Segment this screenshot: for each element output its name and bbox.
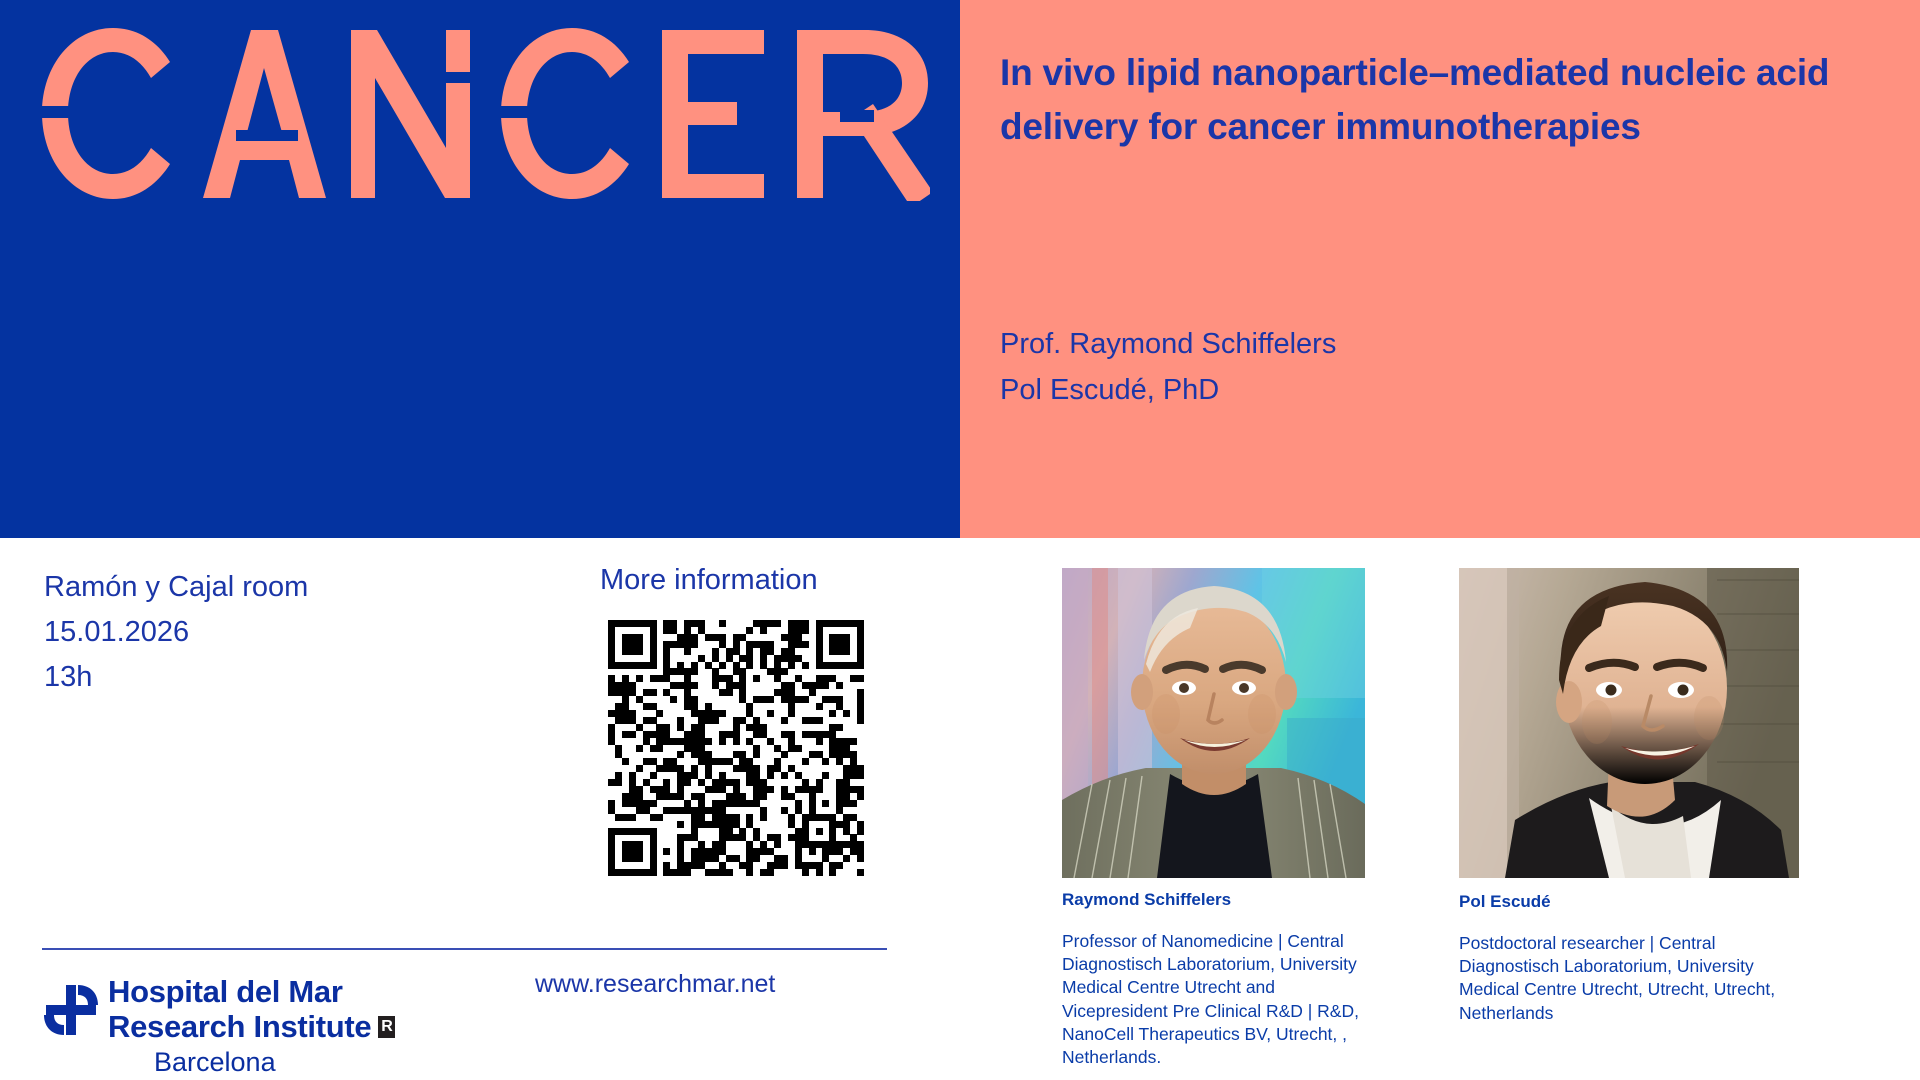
footer-divider <box>42 948 887 950</box>
event-time: 13h <box>44 655 308 700</box>
qr-code[interactable] <box>608 620 864 876</box>
header-banner: In vivo lipid nanoparticle–mediated nucl… <box>0 0 1920 538</box>
header-speaker-list: Prof. Raymond Schiffelers Pol Escudé, Ph… <box>1000 322 1890 414</box>
logo-line-3: Barcelona <box>154 1046 395 1078</box>
speaker-portrait-photo <box>1459 568 1799 878</box>
more-information-label: More information <box>600 564 818 597</box>
cancer-wordmark <box>40 26 930 201</box>
speaker-portrait-photo <box>1062 568 1365 878</box>
speaker-card: Pol Escudé Postdoctoral researcher | Cen… <box>1459 568 1799 1025</box>
speaker-bio: Professor of Nanomedicine | Central Diag… <box>1062 930 1362 1069</box>
body-area: Ramón y Cajal room 15.01.2026 13h More i… <box>0 538 1920 1080</box>
registered-mark-icon: R <box>378 1016 395 1038</box>
speaker-name: Pol Escudé <box>1459 891 1799 912</box>
logo-line-1: Hospital del Mar <box>108 974 395 1009</box>
logo-line-2: Research Institute <box>108 1009 371 1044</box>
qr-code-canvas[interactable] <box>608 620 864 876</box>
logo-line-2-row: Research Institute R <box>108 1009 395 1044</box>
header-speaker-1: Pol Escudé, PhD <box>1000 368 1890 414</box>
cross-logo-icon <box>44 983 98 1037</box>
website-url[interactable]: www.researchmar.net <box>535 970 775 999</box>
event-date: 15.01.2026 <box>44 610 308 655</box>
event-room: Ramón y Cajal room <box>44 565 308 610</box>
event-details: Ramón y Cajal room 15.01.2026 13h <box>44 565 308 701</box>
talk-title: In vivo lipid nanoparticle–mediated nucl… <box>1000 46 1890 153</box>
speaker-bio: Postdoctoral researcher | Central Diagno… <box>1459 932 1779 1024</box>
hospital-del-mar-logo: Hospital del Mar Research Institute R Ba… <box>44 974 395 1078</box>
speaker-card: Raymond Schiffelers Professor of Nanomed… <box>1062 568 1402 1069</box>
header-speaker-0: Prof. Raymond Schiffelers <box>1000 322 1890 368</box>
speaker-name: Raymond Schiffelers <box>1062 889 1402 910</box>
logo-text: Hospital del Mar Research Institute R Ba… <box>108 974 395 1078</box>
